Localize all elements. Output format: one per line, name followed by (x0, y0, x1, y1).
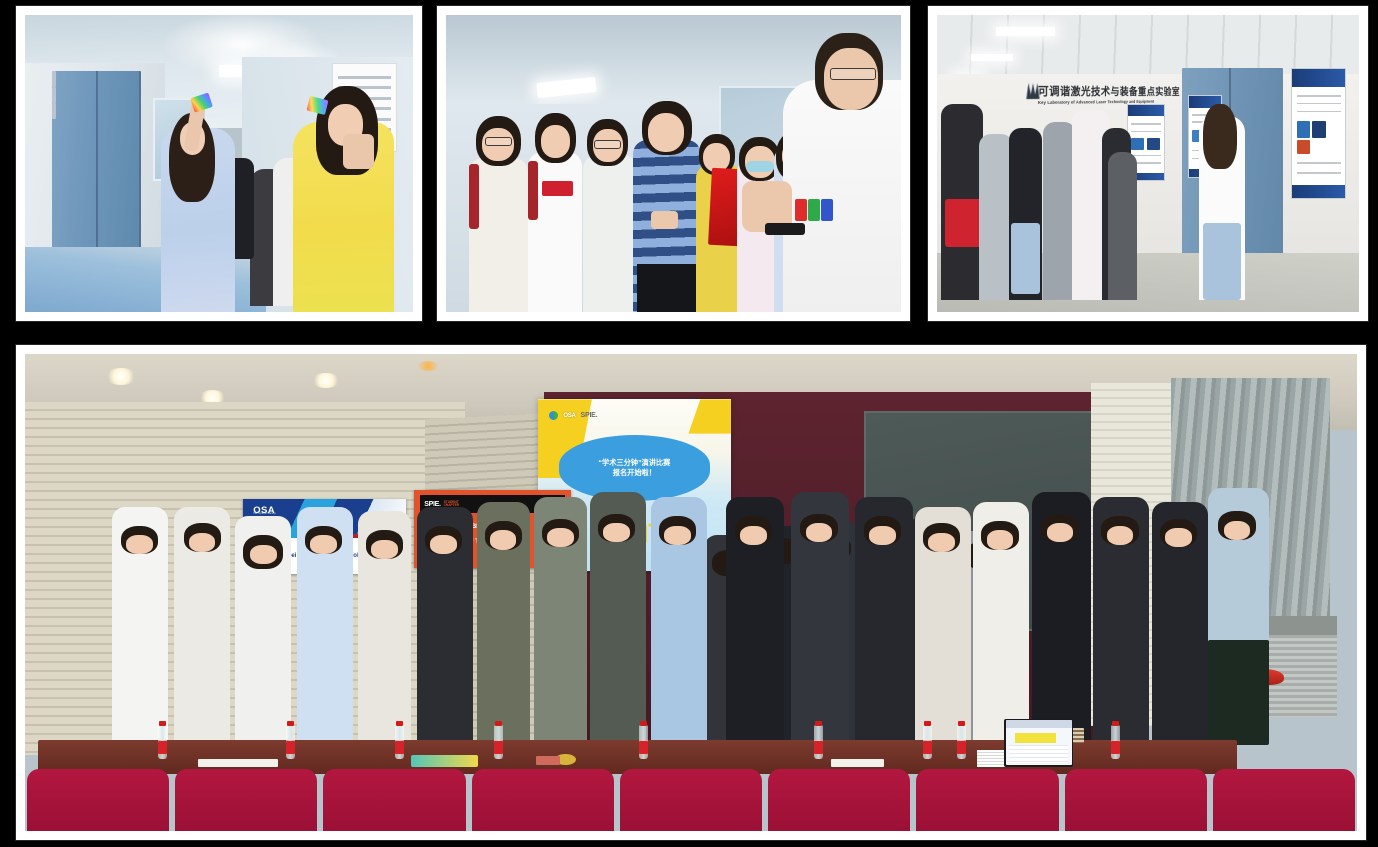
water-bottle (395, 725, 404, 759)
water-bottle (923, 725, 932, 759)
face (126, 535, 153, 554)
water-bottle (814, 725, 823, 759)
photo-panel-top-center (437, 6, 910, 321)
hands-holding-object (651, 211, 678, 229)
face (490, 530, 517, 549)
osa-logo: OSA (563, 413, 575, 419)
ceiling-light-icon (996, 27, 1055, 36)
lab-wall-sign: 可调谐激光技术与装备重点实验室 Key Laboratory of Advanc… (1038, 83, 1181, 105)
research-poster (1291, 68, 1346, 199)
downlight-icon (311, 373, 340, 388)
plastic-bag (411, 755, 478, 766)
student (583, 155, 638, 312)
visitor (1108, 152, 1138, 301)
face (250, 545, 277, 564)
water-bottle (639, 725, 648, 759)
filter-blue-icon (821, 199, 833, 221)
laptop (1004, 719, 1073, 767)
face (928, 533, 955, 552)
water-bottle (286, 725, 295, 759)
face (189, 533, 216, 552)
glasses-icon (485, 137, 512, 146)
highlighted-cells (1015, 733, 1056, 743)
wristband (765, 223, 806, 235)
shirt-graphic (542, 181, 574, 196)
auditorium-seat (768, 769, 910, 831)
glasses-icon (830, 68, 876, 80)
pants (637, 264, 696, 312)
panel-2-image (446, 15, 901, 312)
auditorium-seat (620, 769, 762, 831)
face (1047, 523, 1074, 542)
face (430, 535, 457, 554)
filter-red-icon (795, 199, 807, 221)
water-bottle (1111, 725, 1120, 759)
panel-3-image: 可调谐激光技术与装备重点实验室 Key Laboratory of Advanc… (937, 15, 1359, 312)
photo-panel-top-right: 可调谐激光技术与装备重点实验室 Key Laboratory of Advanc… (928, 6, 1368, 321)
papers-on-table (198, 759, 278, 767)
face (310, 535, 337, 554)
hand (343, 134, 374, 170)
spreadsheet-rows (1009, 745, 1067, 763)
face (1165, 528, 1192, 547)
face (740, 526, 767, 545)
backpack-strap (469, 164, 479, 229)
panel-1-image (25, 15, 413, 312)
face (648, 113, 684, 152)
photo-panel-top-left (16, 6, 422, 321)
laptop-screen (1006, 720, 1072, 765)
auditorium-seat (916, 769, 1058, 831)
auditorium-seat-row (25, 769, 1357, 831)
panel-4-image: OSA SPIE. “学术三分钟”演讲比赛 报名开始啦！ (25, 354, 1357, 831)
face-mask-icon (746, 161, 773, 173)
photo-panel-bottom-wide: OSA SPIE. “学术三分钟”演讲比赛 报名开始啦！ (16, 345, 1366, 840)
slide-headline-line-1: “学术三分钟”演讲比赛 (598, 458, 670, 468)
water-bottle (957, 725, 966, 759)
face (1224, 521, 1251, 540)
water-bottle (158, 725, 167, 759)
filter-green-icon (808, 199, 820, 221)
visitor (979, 134, 1013, 300)
auditorium-seat (472, 769, 614, 831)
auditorium-seat (1065, 769, 1207, 831)
face (547, 528, 574, 547)
auditorium-seat (175, 769, 317, 831)
slide-logo-row: OSA SPIE. (549, 406, 719, 425)
face (806, 523, 833, 542)
papers-on-table (831, 759, 884, 767)
award-plaque (536, 756, 560, 766)
osa-tagline: The Optical Society (253, 512, 276, 515)
red-shorts (945, 199, 983, 247)
face (371, 540, 398, 559)
face (541, 125, 571, 158)
speaker-presenter (783, 80, 901, 312)
ceiling-light-icon (971, 54, 1013, 61)
chapter-logo-icon (549, 411, 558, 420)
glasses-icon (594, 140, 621, 149)
face (603, 523, 630, 542)
jeans (1011, 223, 1041, 294)
spreadsheet-toolbar (1006, 720, 1072, 727)
lab-sign-chinese: 可调谐激光技术与装备重点实验室 (1038, 83, 1181, 99)
optical-filter-set (795, 199, 833, 221)
water-bottle (494, 725, 503, 759)
jeans (1203, 223, 1241, 300)
hair (1203, 104, 1237, 169)
face (664, 526, 691, 545)
slide-headline-line-2: 报名开始啦！ (613, 468, 656, 478)
face (869, 526, 896, 545)
face (987, 530, 1014, 549)
slide-speech-bubble: “学术三分钟”演讲比赛 报名开始啦！ (559, 435, 710, 500)
long-skirt (1208, 640, 1269, 745)
downlight-icon (418, 361, 438, 371)
face (1107, 526, 1134, 545)
auditorium-seat (1213, 769, 1355, 831)
photo-collage: 可调谐激光技术与装备重点实验室 Key Laboratory of Advanc… (0, 0, 1378, 847)
auditorium-seat (27, 769, 169, 831)
backpack-strap (528, 161, 538, 220)
auditorium-seat (323, 769, 465, 831)
spie-logo: SPIE. (581, 412, 598, 419)
